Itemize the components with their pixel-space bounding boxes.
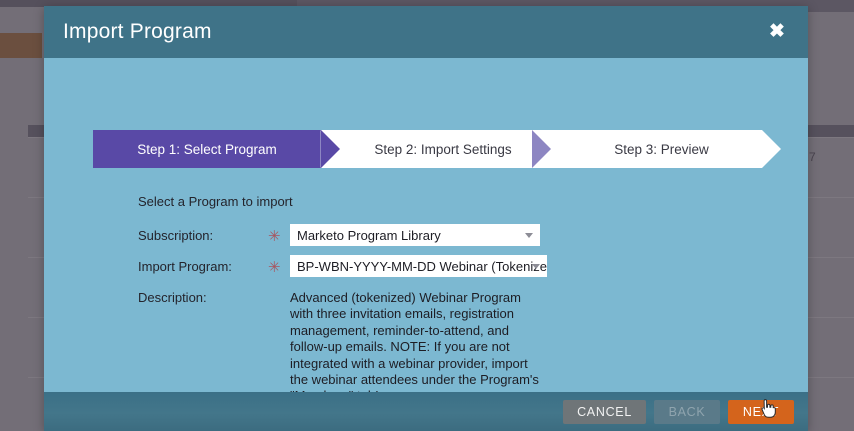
import-program-select-value: BP-WBN-YYYY-MM-DD Webinar (Tokenized) xyxy=(297,259,547,274)
import-program-select[interactable]: BP-WBN-YYYY-MM-DD Webinar (Tokenized) xyxy=(290,255,547,277)
form-row-import-program: Import Program: ✳ BP-WBN-YYYY-MM-DD Webi… xyxy=(138,255,568,277)
description-label: Description: xyxy=(138,290,290,405)
cancel-button[interactable]: CANCEL xyxy=(563,400,646,424)
wizard-step-3-label: Step 3: Preview xyxy=(614,142,709,157)
form-row-description: Description: Advanced (tokenized) Webina… xyxy=(138,290,568,405)
subscription-select-value: Marketo Program Library xyxy=(297,228,441,243)
next-button[interactable]: NEXT xyxy=(728,400,794,424)
subscription-select[interactable]: Marketo Program Library xyxy=(290,224,540,246)
required-asterisk-icon: ✳ xyxy=(268,259,290,273)
wizard-step-3[interactable]: Step 3: Preview xyxy=(551,130,762,168)
import-form: Select a Program to import Subscription:… xyxy=(138,194,568,405)
chevron-down-icon xyxy=(532,264,540,269)
back-button[interactable]: BACK xyxy=(654,400,720,424)
modal-header: Import Program ✖ xyxy=(44,6,808,58)
modal-body: Step 1: Select Program Step 2: Import Se… xyxy=(44,58,808,392)
required-asterisk-icon: ✳ xyxy=(268,228,290,242)
wizard-step-bar: Step 1: Select Program Step 2: Import Se… xyxy=(93,130,762,168)
wizard-step-2-label: Step 2: Import Settings xyxy=(374,142,511,157)
import-program-label: Import Program: xyxy=(138,259,268,274)
close-icon[interactable]: ✖ xyxy=(766,21,788,43)
description-text: Advanced (tokenized) Webinar Program wit… xyxy=(290,290,542,405)
wizard-step-2[interactable]: Step 2: Import Settings xyxy=(321,130,551,168)
page-title: Import Program xyxy=(44,20,212,44)
subscription-label: Subscription: xyxy=(138,228,268,243)
wizard-step-1-label: Step 1: Select Program xyxy=(137,142,277,157)
form-row-subscription: Subscription: ✳ Marketo Program Library xyxy=(138,224,568,246)
chevron-down-icon xyxy=(525,233,533,238)
modal-footer: CANCEL BACK NEXT xyxy=(44,392,808,431)
chevron-divider-icon xyxy=(532,130,551,168)
import-program-modal: Import Program ✖ Step 1: Select Program … xyxy=(44,6,808,431)
wizard-step-1[interactable]: Step 1: Select Program xyxy=(93,130,321,168)
form-intro-text: Select a Program to import xyxy=(138,194,568,209)
